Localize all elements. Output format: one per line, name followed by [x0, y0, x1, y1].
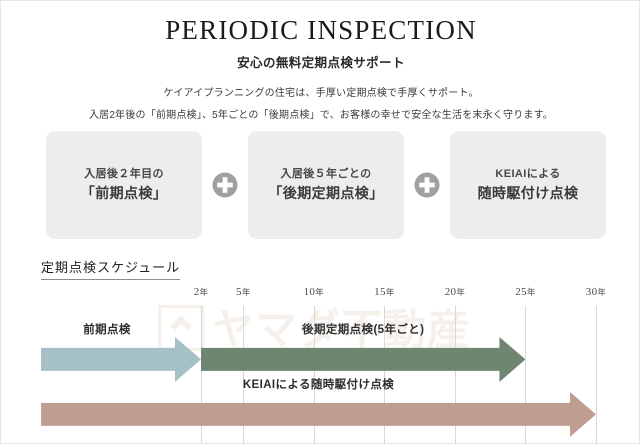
connector-2: [405, 172, 449, 198]
lead-text-line-2: 入居2年後の「前期点検」、5年ごとの「後期点検」で、お客様の幸せで安全な生活を末…: [1, 99, 640, 121]
timeline-arrow: [41, 392, 596, 442]
plus-icon: [414, 172, 440, 198]
inspection-card-late: 入居後５年ごとの 「後期定期点検」: [248, 131, 404, 239]
card-title: 随時駆付け点検: [478, 184, 579, 203]
card-subtitle: 入居後２年目の: [84, 167, 164, 182]
card-title: 「後期定期点検」: [268, 184, 383, 203]
bar-label: KEIAIによる随時駆付け点検: [243, 376, 394, 392]
gridline-30年: [596, 306, 597, 444]
card-subtitle: 入居後５年ごとの: [280, 167, 371, 182]
tick-label: 20年: [445, 286, 465, 298]
card-title: 「前期点検」: [81, 184, 167, 203]
connector-1: [203, 172, 247, 198]
inspection-timeline-chart: ヤマダ不動産 2年5年10年15年20年25年30年 前期点検後期定期点検(5年…: [1, 286, 640, 444]
page-title: PERIODIC INSPECTION: [1, 1, 640, 46]
schedule-section-title: 定期点検スケジュール: [41, 257, 180, 280]
timeline-arrow: [41, 337, 201, 387]
tick-label: 25年: [515, 286, 535, 298]
tick-label: 15年: [374, 286, 394, 298]
card-subtitle: KEIAIによる: [495, 167, 560, 182]
inspection-card-support: KEIAIによる 随時駆付け点検: [450, 131, 606, 239]
page-subtitle: 安心の無料定期点検サポート: [1, 46, 640, 71]
inspection-card-row: 入居後２年目の 「前期点検」 入居後５年ごとの 「後期定期点検」: [46, 131, 606, 239]
inspection-card-early: 入居後２年目の 「前期点検」: [46, 131, 202, 239]
page-header: PERIODIC INSPECTION 安心の無料定期点検サポート ケイアイプラ…: [1, 1, 640, 121]
plus-icon: [212, 172, 238, 198]
periodic-inspection-page: PERIODIC INSPECTION 安心の無料定期点検サポート ケイアイプラ…: [0, 0, 640, 444]
tick-label: 30年: [586, 286, 606, 298]
bar-label: 前期点検: [83, 321, 131, 337]
tick-label: 10年: [304, 286, 324, 298]
tick-label: 5年: [236, 286, 251, 298]
lead-text-line-1: ケイアイプランニングの住宅は、手厚い定期点検で手厚くサポート。: [1, 71, 640, 99]
tick-label: 2年: [194, 286, 209, 298]
bar-label: 後期定期点検(5年ごと): [302, 321, 424, 337]
